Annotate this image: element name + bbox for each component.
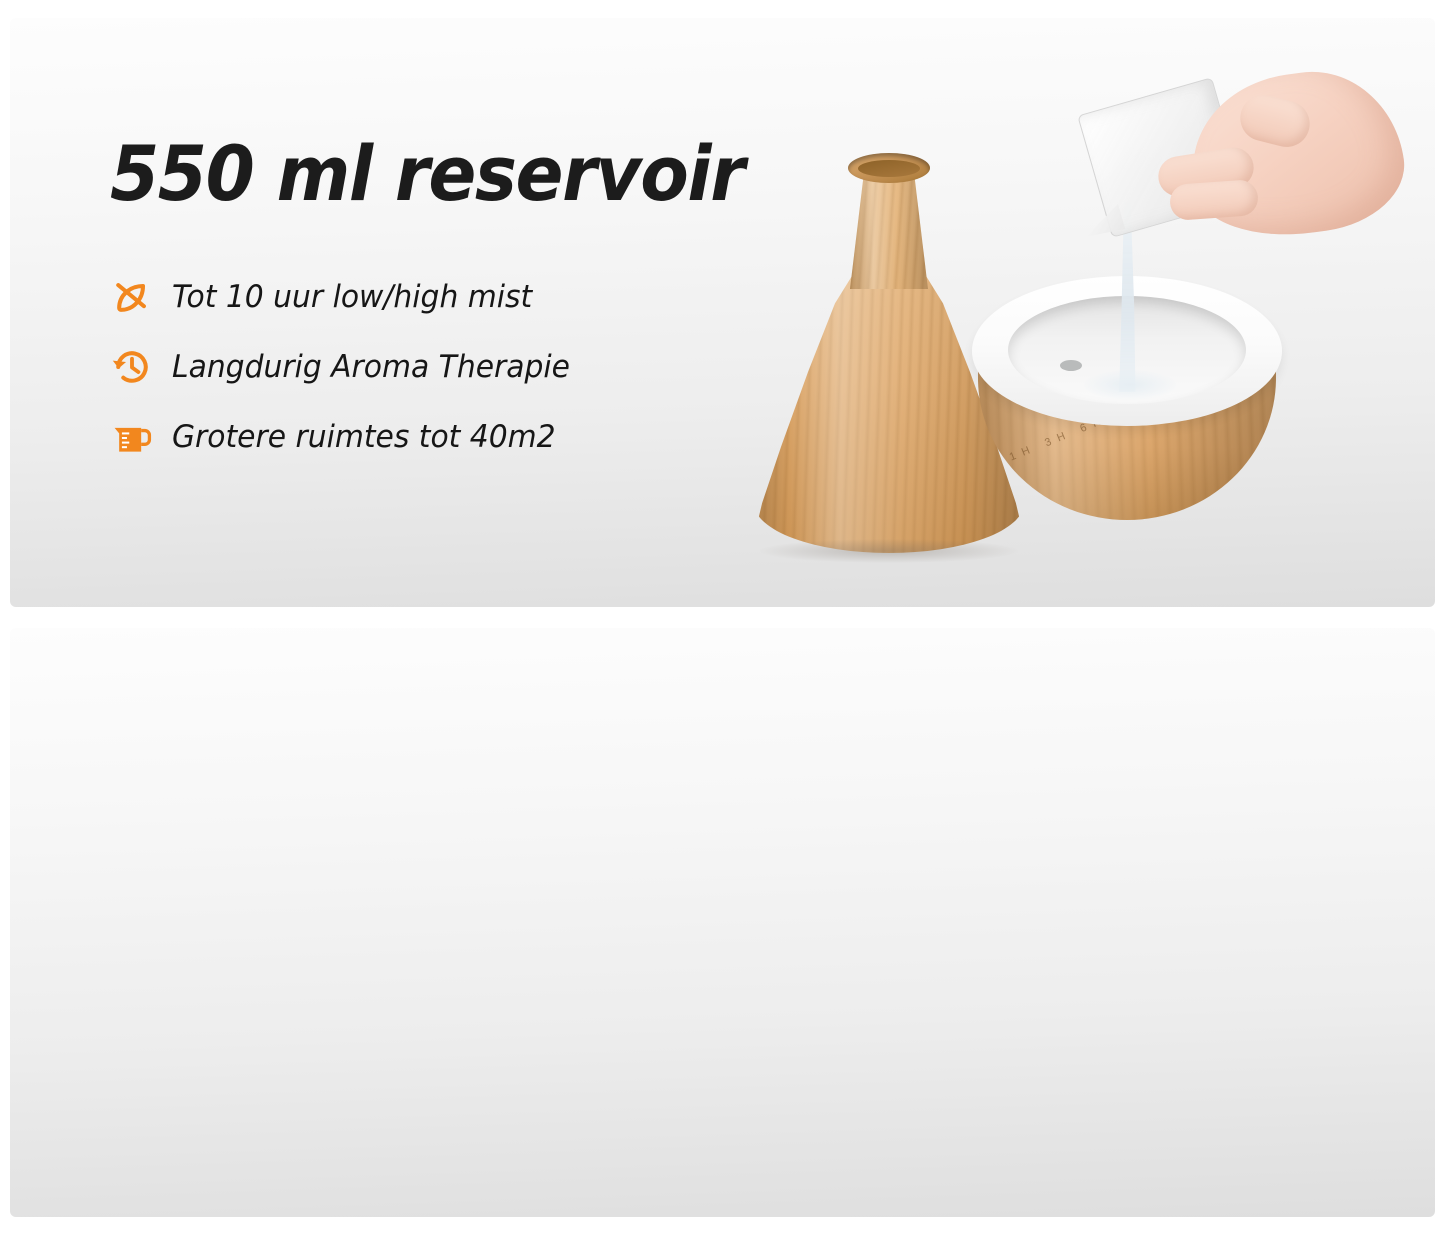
list-item-label: Tot 10 uur low/high mist: [172, 279, 532, 315]
product-image-open-diffuser: 1H 3H 6H ON: [740, 78, 1435, 607]
lid-mist-outlet: [848, 153, 930, 183]
finger: [1169, 179, 1259, 221]
lid-shadow: [760, 539, 1018, 563]
list-item: Langdurig Aroma Therapie: [110, 334, 750, 400]
panel-reservoir: 550 ml reservoir Tot 10 uur low/high mis…: [10, 18, 1435, 607]
list-item-label: Grotere ruimtes tot 40m2: [172, 419, 556, 455]
list-item-label: Langdurig Aroma Therapie: [172, 349, 570, 385]
water-splash: [1084, 370, 1176, 400]
measuring-jug-icon: [110, 415, 154, 459]
clock-history-icon: [110, 345, 154, 389]
panel-auto-stop: Auto-stop Automatische uitschakeling: [10, 628, 1435, 1217]
reservoir-feature-list: Tot 10 uur low/high mist Langdurig Aroma…: [110, 264, 750, 470]
reservoir-text-block: 550 ml reservoir Tot 10 uur low/high mis…: [110, 136, 750, 474]
product-infographic: 550 ml reservoir Tot 10 uur low/high mis…: [0, 0, 1445, 1238]
list-item: Tot 10 uur low/high mist: [110, 264, 750, 330]
list-item: Grotere ruimtes tot 40m2: [110, 404, 750, 470]
leaf-mist-icon: [110, 275, 154, 319]
page-title: 550 ml reservoir: [110, 136, 705, 212]
